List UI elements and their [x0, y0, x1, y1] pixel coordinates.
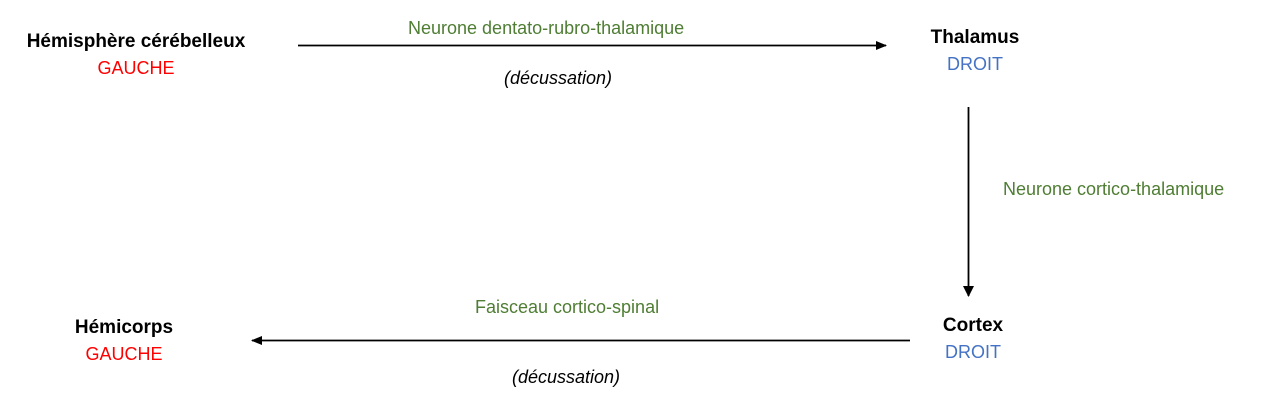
edge-label-dentato-rubro-thalamique: Neurone dentato-rubro-thalamique — [408, 18, 684, 39]
node-cortex: Cortex DROIT — [898, 314, 1048, 364]
edge-label-cortico-thalamique: Neurone cortico-thalamique — [1003, 179, 1224, 200]
node-hemisphere-cerebelleux: Hémisphère cérébelleux GAUCHE — [4, 30, 268, 80]
node-side-hemicorps: GAUCHE — [46, 342, 202, 366]
node-title-thalamus: Thalamus — [900, 26, 1050, 50]
node-thalamus: Thalamus DROIT — [900, 26, 1050, 76]
node-title-cortex: Cortex — [898, 314, 1048, 338]
edge-sublabel-decussation-bottom: (décussation) — [512, 367, 620, 388]
edge-label-faisceau-cortico-spinal: Faisceau cortico-spinal — [475, 297, 659, 318]
node-title-hemicorps: Hémicorps — [46, 316, 202, 340]
edge-sublabel-decussation-top: (décussation) — [504, 68, 612, 89]
node-title-cerebellum: Hémisphère cérébelleux — [4, 30, 268, 54]
node-hemicorps: Hémicorps GAUCHE — [46, 316, 202, 366]
node-side-thalamus: DROIT — [900, 52, 1050, 76]
node-side-cortex: DROIT — [898, 340, 1048, 364]
pathway-diagram: Hémisphère cérébelleux GAUCHE Thalamus D… — [0, 0, 1274, 412]
node-side-cerebellum: GAUCHE — [4, 56, 268, 80]
